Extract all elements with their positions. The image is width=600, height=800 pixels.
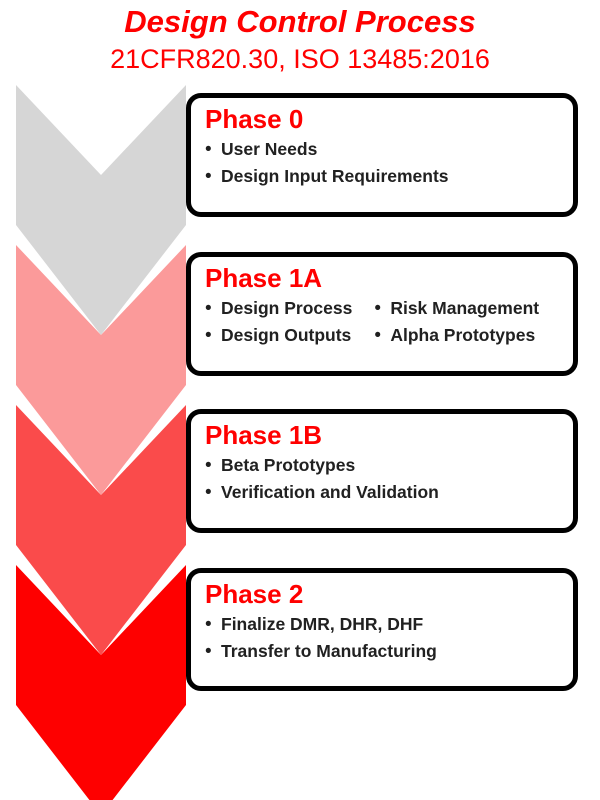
phase-box-phase-1b[interactable]: Phase 1B•Beta Prototypes•Verification an… [186, 409, 578, 533]
list-item: •User Needs [205, 136, 449, 163]
phase-title-phase-1b: Phase 1B [191, 414, 573, 452]
phase-title-phase-1a: Phase 1A [191, 257, 573, 295]
bullet-columns-phase-1b: •Beta Prototypes•Verification and Valida… [191, 452, 573, 506]
list-item-label: Beta Prototypes [221, 452, 355, 478]
bullet-dot-icon: • [374, 296, 390, 322]
bullet-columns-phase-2: •Finalize DMR, DHR, DHF•Transfer to Manu… [191, 611, 573, 665]
bullet-columns-phase-1a: •Design Process•Design Outputs•Risk Mana… [191, 295, 573, 349]
bullet-column: •Beta Prototypes•Verification and Valida… [205, 452, 439, 506]
list-item-label: Transfer to Manufacturing [221, 638, 437, 664]
list-item-label: Finalize DMR, DHR, DHF [221, 611, 423, 637]
bullet-dot-icon: • [205, 137, 221, 163]
bullet-dot-icon: • [205, 164, 221, 190]
phase-title-phase-2: Phase 2 [191, 573, 573, 611]
list-item-label: Alpha Prototypes [390, 322, 535, 348]
bullet-dot-icon: • [205, 639, 221, 665]
list-item: •Risk Management [374, 295, 539, 322]
list-item: •Design Process [205, 295, 352, 322]
list-item-label: Design Outputs [221, 322, 351, 348]
phase-title-phase-0: Phase 0 [191, 98, 573, 136]
bullet-dot-icon: • [374, 323, 390, 349]
list-item: •Transfer to Manufacturing [205, 638, 437, 665]
phase-box-phase-1a[interactable]: Phase 1A•Design Process•Design Outputs•R… [186, 252, 578, 376]
list-item-label: Design Input Requirements [221, 163, 449, 189]
phase-box-phase-2[interactable]: Phase 2•Finalize DMR, DHR, DHF•Transfer … [186, 568, 578, 691]
bullet-column: •User Needs•Design Input Requirements [205, 136, 449, 190]
bullet-column: •Design Process•Design Outputs [205, 295, 352, 349]
bullet-dot-icon: • [205, 323, 221, 349]
bullet-dot-icon: • [205, 453, 221, 479]
list-item: •Design Outputs [205, 322, 352, 349]
list-item-label: Risk Management [390, 295, 539, 321]
page-subtitle: 21CFR820.30, ISO 13485:2016 [0, 40, 600, 75]
design-control-process-diagram: Design Control Process 21CFR820.30, ISO … [0, 0, 600, 800]
bullet-column: •Finalize DMR, DHR, DHF•Transfer to Manu… [205, 611, 437, 665]
list-item: •Design Input Requirements [205, 163, 449, 190]
list-item: •Beta Prototypes [205, 452, 439, 479]
bullet-columns-phase-0: •User Needs•Design Input Requirements [191, 136, 573, 190]
list-item: •Verification and Validation [205, 479, 439, 506]
list-item-label: User Needs [221, 136, 317, 162]
list-item-label: Design Process [221, 295, 352, 321]
phase-box-phase-0[interactable]: Phase 0•User Needs•Design Input Requirem… [186, 93, 578, 217]
list-item: •Alpha Prototypes [374, 322, 539, 349]
list-item: •Finalize DMR, DHR, DHF [205, 611, 437, 638]
bullet-dot-icon: • [205, 612, 221, 638]
bullet-dot-icon: • [205, 296, 221, 322]
page-title: Design Control Process [0, 0, 600, 40]
bullet-dot-icon: • [205, 480, 221, 506]
list-item-label: Verification and Validation [221, 479, 439, 505]
diagram-header: Design Control Process 21CFR820.30, ISO … [0, 0, 600, 75]
bullet-column: •Risk Management•Alpha Prototypes [374, 295, 539, 349]
